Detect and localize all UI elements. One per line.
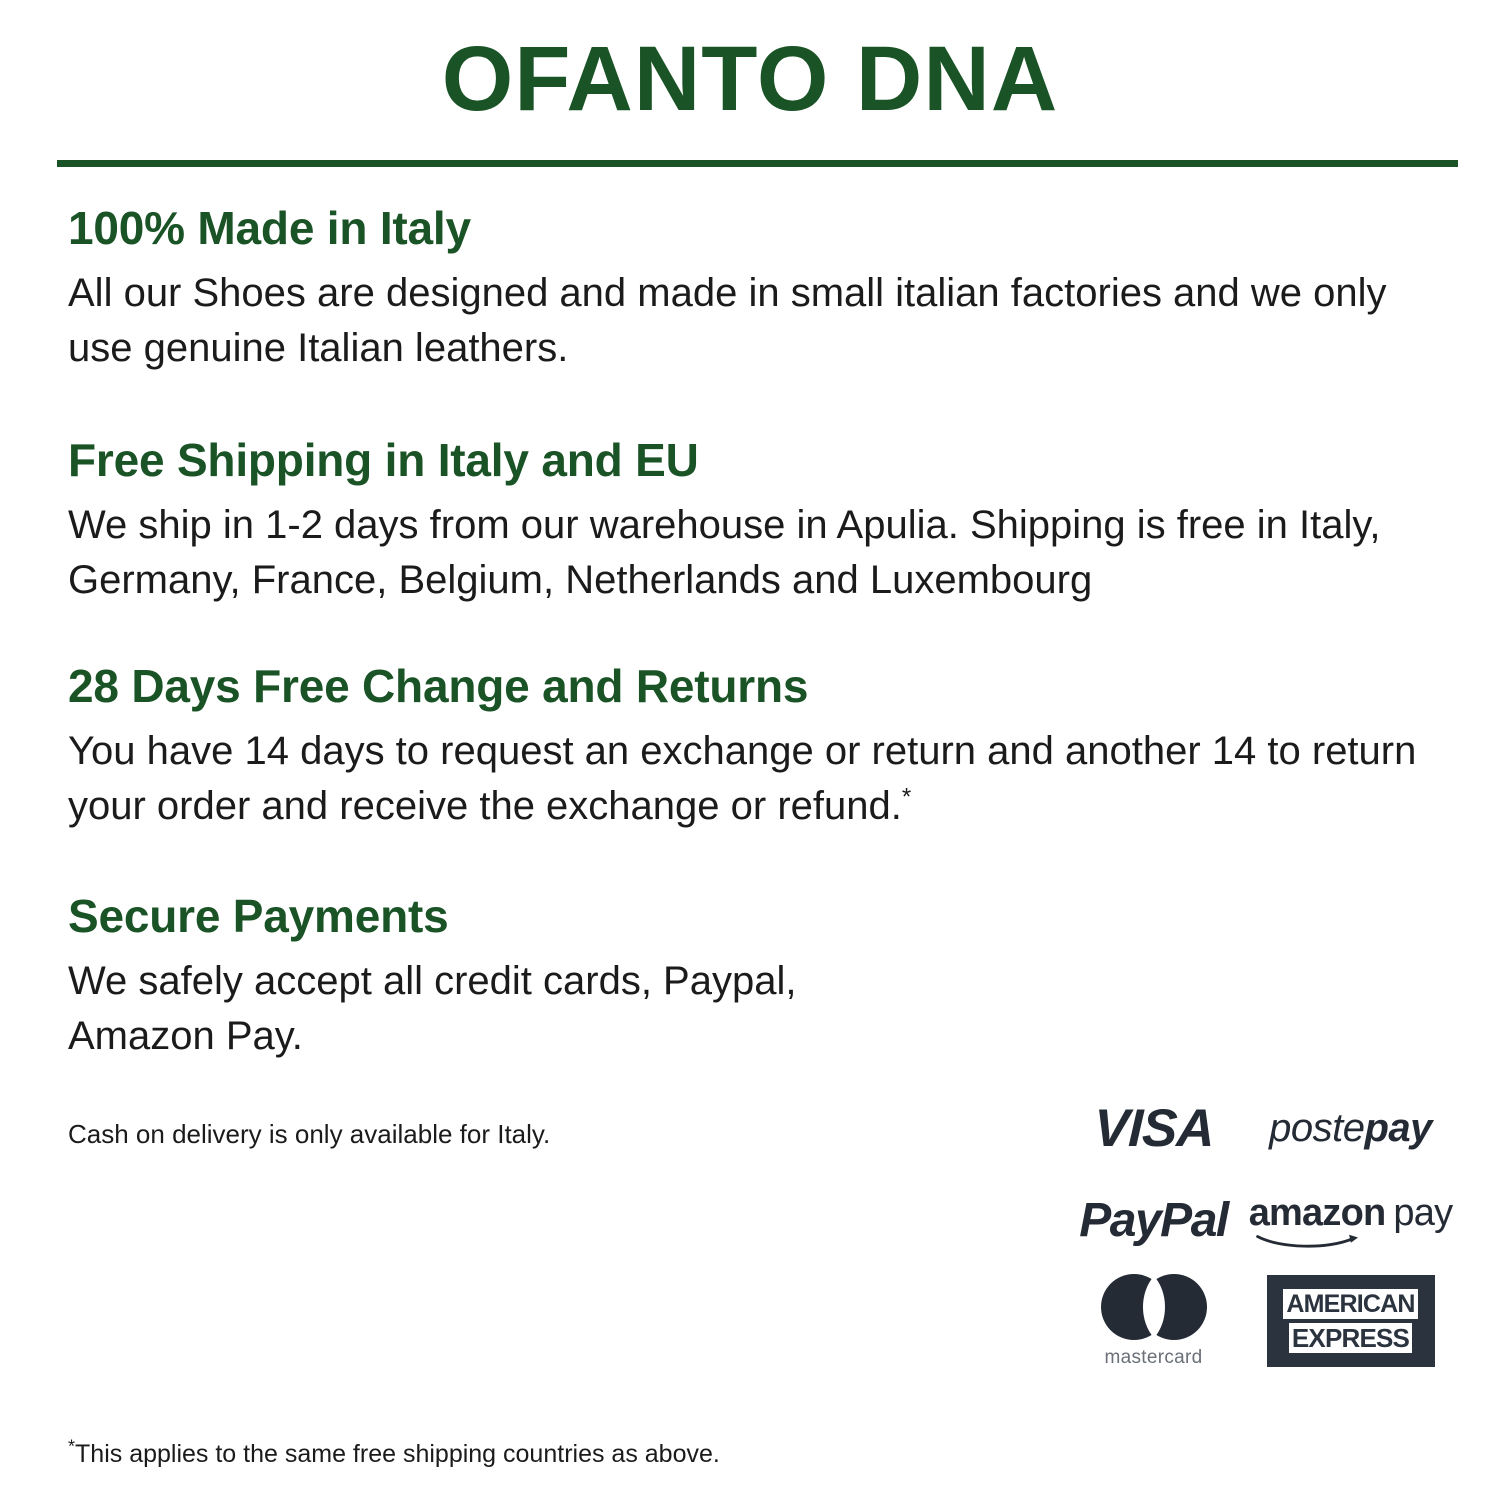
payment-logos-row-2: PayPal amazonpay (1055, 1174, 1450, 1266)
american-express-icon: AMERICAN EXPRESS (1267, 1275, 1435, 1367)
mastercard-icon: mastercard (1101, 1274, 1207, 1369)
section-body-secure-payments: We safely accept all credit cards, Paypa… (68, 954, 928, 1064)
mastercard-circles (1101, 1274, 1207, 1340)
section-body-made-in-italy: All our Shoes are designed and made in s… (68, 266, 1428, 376)
amazon-pay-label-part-2: pay (1393, 1192, 1452, 1234)
footnote-asterisk-marker: * (68, 1437, 75, 1457)
postepay-label-part-1: poste (1269, 1106, 1364, 1150)
section-heading-made-in-italy: 100% Made in Italy (68, 200, 1468, 256)
payment-logo-cell-american-express: AMERICAN EXPRESS (1252, 1266, 1449, 1376)
section-body-free-shipping: We ship in 1-2 days from our warehouse i… (68, 498, 1428, 608)
amazon-pay-icon: amazonpay (1249, 1192, 1453, 1249)
amex-label-part-1: AMERICAN (1283, 1289, 1417, 1319)
section-change-and-returns: 28 Days Free Change and Returns You have… (68, 658, 1468, 834)
visa-icon: VISA (1093, 1098, 1215, 1159)
footnote: *This applies to the same free shipping … (68, 1437, 720, 1471)
section-heading-secure-payments: Secure Payments (68, 888, 968, 944)
cash-on-delivery-note: Cash on delivery is only available for I… (68, 1116, 968, 1152)
returns-asterisk-marker: * (902, 784, 911, 811)
section-heading-change-and-returns: 28 Days Free Change and Returns (68, 658, 1468, 714)
amazon-swoosh-icon (1251, 1233, 1369, 1249)
payment-logo-cell-postepay: postepay (1252, 1082, 1449, 1174)
section-made-in-italy: 100% Made in Italy All our Shoes are des… (68, 200, 1468, 376)
content-area: 100% Made in Italy All our Shoes are des… (68, 200, 1468, 1194)
page-title: OFANTO DNA (0, 24, 1500, 134)
section-heading-free-shipping: Free Shipping in Italy and EU (68, 432, 1468, 488)
payment-logos-row-1: VISA postepay (1055, 1082, 1450, 1174)
amazon-pay-label-part-1: amazon (1249, 1192, 1386, 1234)
paypal-icon: PayPal (1079, 1193, 1227, 1248)
postepay-icon: postepay (1269, 1106, 1432, 1151)
payment-logos-grid: VISA postepay PayPal amazonpay (1055, 1082, 1450, 1376)
postepay-label-part-2: pay (1364, 1106, 1431, 1150)
section-body-change-and-returns-text: You have 14 days to request an exchange … (68, 729, 1416, 828)
payment-logo-cell-mastercard: mastercard (1055, 1266, 1252, 1376)
header-divider (57, 160, 1458, 167)
mastercard-label: mastercard (1104, 1347, 1202, 1369)
amex-label-part-2: EXPRESS (1289, 1323, 1412, 1353)
footnote-text: This applies to the same free shipping c… (75, 1440, 720, 1468)
section-body-change-and-returns: You have 14 days to request an exchange … (68, 724, 1428, 834)
payment-logos-row-3: mastercard AMERICAN EXPRESS (1055, 1266, 1450, 1376)
payment-logo-cell-amazon-pay: amazonpay (1252, 1174, 1449, 1266)
payment-logo-cell-visa: VISA (1055, 1082, 1252, 1174)
payment-logo-cell-paypal: PayPal (1055, 1174, 1252, 1266)
section-free-shipping: Free Shipping in Italy and EU We ship in… (68, 432, 1468, 608)
mastercard-lens-overlap (1101, 1274, 1207, 1340)
secure-payments-text: Secure Payments We safely accept all cre… (68, 888, 968, 1152)
ofanto-dna-info-page: OFANTO DNA 100% Made in Italy All our Sh… (0, 0, 1500, 1500)
